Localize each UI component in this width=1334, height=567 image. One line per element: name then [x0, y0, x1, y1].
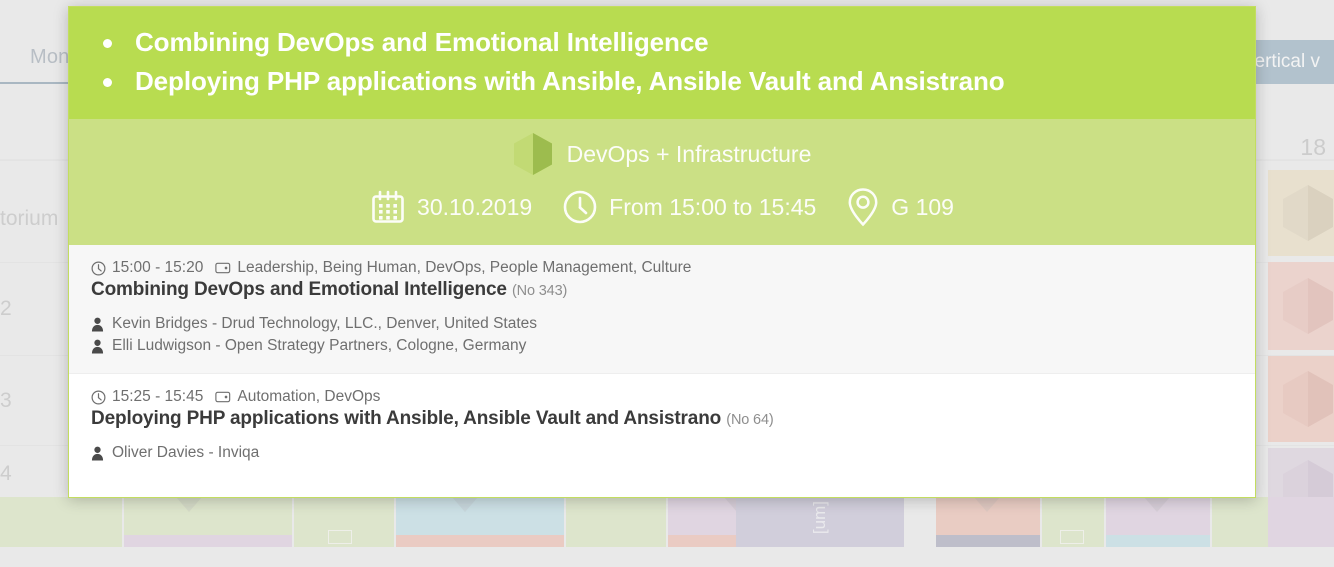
session-card[interactable]	[1268, 356, 1334, 442]
person-icon	[91, 446, 104, 461]
modal-title-list: Combining DevOps and Emotional Intellige…	[69, 23, 1255, 101]
collapse-triangle-icon	[1144, 497, 1170, 512]
session-card-vertical-label: [um]	[810, 501, 830, 534]
session-title-row: Combining DevOps and Emotional Intellige…	[91, 279, 1233, 301]
fact-time: From 15:00 to 15:45	[562, 189, 816, 225]
session-tags: Automation, DevOps	[237, 388, 380, 406]
speaker-item: Oliver Davies - Inviqa	[91, 442, 1233, 464]
session-list-item[interactable]: 15:00 - 15:20 Leadership, Being Human, D…	[69, 245, 1255, 374]
session-card[interactable]	[1268, 262, 1334, 350]
room-row-label-3: 3	[0, 389, 12, 413]
session-room: G 109	[891, 194, 954, 221]
session-meta-line: 15:25 - 15:45 Automation, DevOps	[91, 388, 1233, 406]
calendar-icon	[370, 189, 406, 225]
session-card[interactable]	[936, 497, 1040, 547]
session-title: Combining DevOps and Emotional Intellige…	[91, 279, 507, 300]
session-card[interactable]	[0, 497, 122, 547]
session-time: 15:00 - 15:20	[112, 259, 203, 277]
session-title: Deploying PHP applications with Ansible,…	[91, 408, 721, 429]
room-row-label-4: 4	[0, 462, 12, 486]
session-card-sub	[936, 535, 1040, 547]
session-number: (No 64)	[726, 412, 773, 428]
speaker-name: Kevin Bridges - Drud Technology, LLC., D…	[112, 313, 537, 335]
session-card[interactable]	[1268, 170, 1334, 256]
session-list: 15:00 - 15:20 Leadership, Being Human, D…	[69, 245, 1255, 480]
session-list-item[interactable]: 15:25 - 15:45 Automation, DevOps Deployi…	[69, 374, 1255, 480]
modal-title-bar: Combining DevOps and Emotional Intellige…	[69, 7, 1255, 119]
clock-icon	[562, 189, 598, 225]
tag-icon	[215, 261, 231, 275]
clock-icon	[91, 390, 106, 405]
speaker-item: Elli Ludwigson - Open Strategy Partners,…	[91, 335, 1233, 357]
hexagon-icon	[1282, 184, 1334, 242]
tag-icon	[215, 390, 231, 404]
session-detail-modal: Combining DevOps and Emotional Intellige…	[68, 6, 1256, 498]
session-card[interactable]	[1212, 497, 1268, 547]
session-date: 30.10.2019	[417, 194, 532, 221]
session-card[interactable]	[396, 497, 564, 547]
session-number: (No 343)	[512, 283, 567, 299]
session-card[interactable]	[294, 497, 394, 547]
room-row-label-2: 2	[0, 297, 12, 321]
session-card[interactable]	[1106, 497, 1210, 547]
tab-monday[interactable]: Mon	[30, 46, 70, 69]
modal-title-bullet-1: Combining DevOps and Emotional Intellige…	[135, 23, 1255, 62]
session-card-sub	[124, 535, 292, 547]
session-meta-line: 15:00 - 15:20 Leadership, Being Human, D…	[91, 259, 1233, 277]
location-pin-icon	[846, 187, 880, 227]
hexagon-icon	[1282, 277, 1334, 335]
session-card[interactable]	[124, 497, 292, 547]
collapse-triangle-icon	[974, 497, 1000, 512]
collapse-triangle-icon	[176, 497, 202, 512]
modal-facts-row: 30.10.2019 From 15:00 to 15:45	[69, 187, 1255, 227]
hexagon-icon	[1282, 370, 1334, 428]
fact-room: G 109	[846, 187, 954, 227]
track-row: DevOps + Infrastructure	[69, 127, 1255, 181]
collapse-triangle-icon	[452, 497, 478, 512]
clock-icon	[91, 261, 106, 276]
speaker-item: Kevin Bridges - Drud Technology, LLC., D…	[91, 313, 1233, 335]
session-card-vertical[interactable]: [um]	[736, 497, 904, 547]
session-card-sub	[396, 535, 564, 547]
modal-title-bullet-2: Deploying PHP applications with Ansible,…	[135, 62, 1255, 101]
person-icon	[91, 317, 104, 332]
session-timespan: From 15:00 to 15:45	[609, 194, 816, 221]
room-row-label-auditorium: torium	[0, 207, 58, 231]
session-card[interactable]	[1042, 497, 1104, 547]
empty-slot-box	[328, 530, 352, 544]
page-footer	[0, 547, 1334, 567]
session-card[interactable]	[1268, 497, 1334, 547]
session-card-sub	[1106, 535, 1210, 547]
session-card[interactable]	[566, 497, 666, 547]
speaker-name: Oliver Davies - Inviqa	[112, 442, 259, 464]
schedule-bottom-row: [um]	[0, 497, 1334, 547]
hour-label-18: 18	[1300, 134, 1326, 161]
person-icon	[91, 339, 104, 354]
empty-slot-box	[1060, 530, 1084, 544]
fact-date: 30.10.2019	[370, 189, 532, 225]
session-tags: Leadership, Being Human, DevOps, People …	[237, 259, 691, 277]
modal-meta-bar: DevOps + Infrastructure	[69, 119, 1255, 245]
track-name: DevOps + Infrastructure	[567, 141, 812, 168]
app-root: Mon Switch to vertical v 18 torium 2 3 4	[0, 0, 1334, 567]
session-time: 15:25 - 15:45	[112, 388, 203, 406]
hexagon-icon	[513, 132, 553, 176]
speaker-name: Elli Ludwigson - Open Strategy Partners,…	[112, 335, 526, 357]
session-title-row: Deploying PHP applications with Ansible,…	[91, 408, 1233, 430]
